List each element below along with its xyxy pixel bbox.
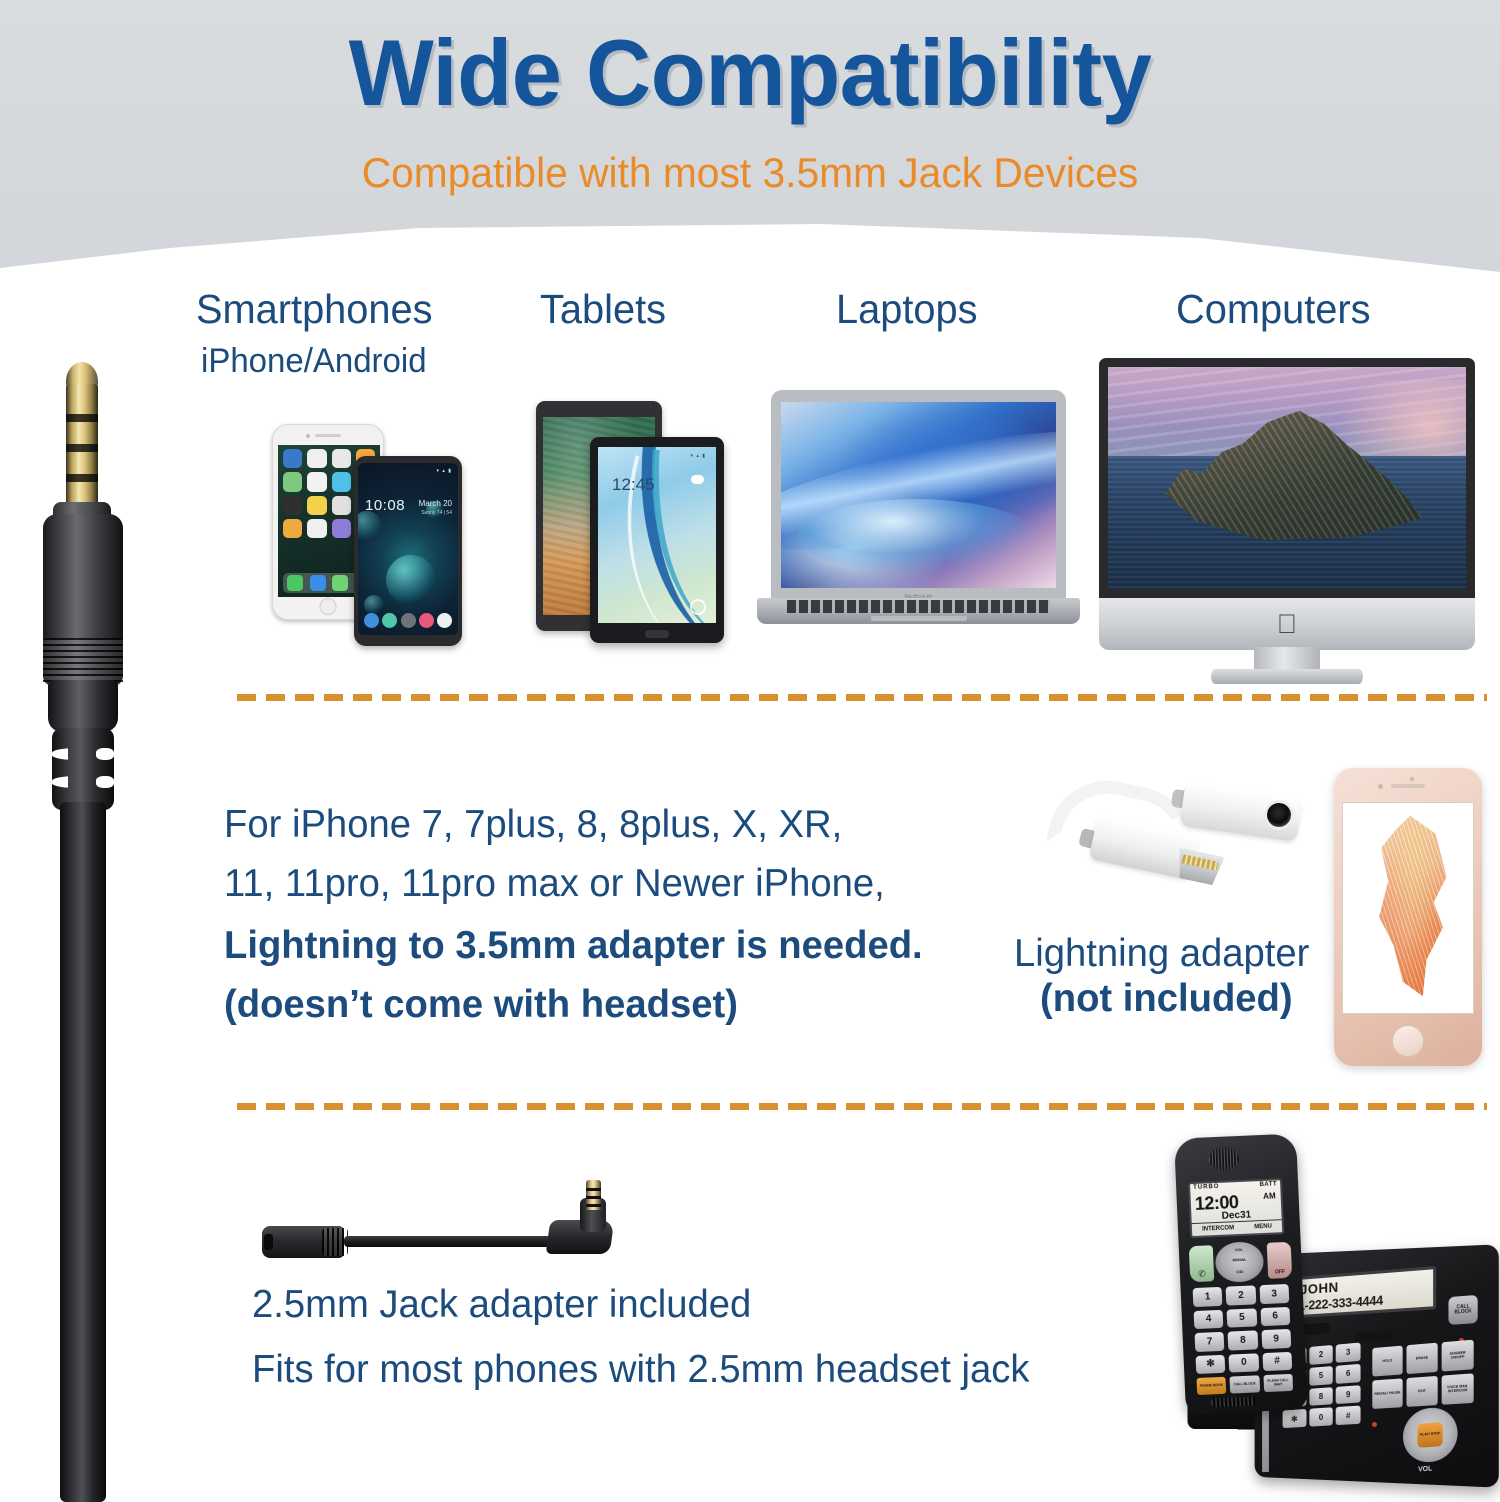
play-stop-button[interactable]: PLAY/ STOP (1417, 1422, 1442, 1448)
redial-pause-button[interactable]: REDIAL/ PAUSE (1372, 1378, 1402, 1409)
imac-screen (1108, 367, 1466, 589)
tablet-weather-icon (691, 475, 704, 484)
handset-earpiece (1208, 1146, 1239, 1171)
app-icon (332, 519, 351, 538)
wallpaper-bubble (364, 595, 384, 615)
android-dock (364, 613, 452, 628)
android-weather: Sunny 74 | 54 (421, 510, 452, 516)
softkey-intercom[interactable]: INTERCOM (1202, 1225, 1234, 1232)
handset-keypad[interactable]: 1 2 3 4 5 6 7 8 9 ✻ 0 # (1193, 1284, 1293, 1374)
android-clock: 10:08 (365, 497, 405, 514)
plug-insulator-ring-3 (66, 474, 98, 482)
category-label-smartphones: Smartphones (196, 288, 433, 331)
plug-relief-notch-2b (96, 776, 114, 788)
macbook-trackpad (871, 616, 967, 621)
rose-gold-iphone-illustration (1334, 768, 1482, 1066)
app-icon (307, 496, 326, 515)
keypad-key[interactable]: 6 (1260, 1306, 1290, 1326)
iphone-proximity-sensor (1410, 777, 1414, 781)
macbook-keyboard (787, 600, 1050, 613)
keypad-key[interactable]: 3 (1336, 1343, 1361, 1363)
call-block-label: CALL BLOCK (1448, 1304, 1477, 1316)
android-phone-illustration: ▾ ▴ ▮ 10:08 March 20 Sunny 74 | 54 (354, 456, 462, 646)
iphone-speaker (315, 434, 341, 437)
keypad-key[interactable]: 8 (1228, 1330, 1258, 1350)
call-block-button[interactable]: CALL BLOCK (1230, 1375, 1260, 1393)
iphone-screen (1342, 802, 1474, 1014)
answer-on-off-button[interactable]: ANSWER ON/OFF (1442, 1340, 1474, 1372)
app-icon (283, 449, 302, 468)
section-divider-top (237, 694, 1487, 701)
page-subtitle: Compatible with most 3.5mm Jack Devices (23, 152, 1478, 194)
page-title: Wide Compatibility (30, 26, 1470, 120)
status-led-icon (1372, 1422, 1377, 1427)
dock-icon-safari (310, 575, 326, 591)
app-icon (332, 472, 351, 491)
keypad-key[interactable]: ✻ (1283, 1409, 1307, 1428)
iphone-front-camera (306, 434, 310, 438)
volume-label: VOL (1418, 1465, 1432, 1473)
lightning-adapter-not-included-caption: (not included) (1040, 977, 1293, 1021)
keypad-key[interactable]: ✻ (1196, 1354, 1226, 1374)
android-screen: ▾ ▴ ▮ 10:08 March 20 Sunny 74 | 54 (358, 463, 458, 635)
dock-icon-photos (419, 613, 434, 628)
imac-illustration:  (1093, 358, 1481, 688)
category-label-computers: Computers (1176, 288, 1371, 331)
iphone-front-camera (1378, 784, 1383, 789)
erase-button[interactable]: ERASE (1407, 1343, 1438, 1374)
handset-display: TURBO BATT 12:00 AM Dec31 INTERCOM MENU (1188, 1178, 1284, 1238)
voicemail-intercom-button[interactable]: VOICE MAIL INTERCOM (1442, 1373, 1474, 1404)
phonebook-button[interactable]: PHONE BOOK (1196, 1377, 1226, 1395)
keypad-key[interactable]: 0 (1309, 1407, 1333, 1426)
plug-insulator-ring-1 (586, 1188, 601, 1191)
macbook-lid: MacBook Air (771, 390, 1066, 602)
call-block-button[interactable]: CALL BLOCK (1448, 1295, 1477, 1325)
adapter-cord (344, 1236, 556, 1247)
softkey-menu[interactable]: MENU (1254, 1224, 1272, 1231)
imac-chin:  (1099, 598, 1475, 650)
keypad-key[interactable]: # (1262, 1351, 1292, 1371)
app-icon (307, 519, 326, 538)
imac-stand-foot (1211, 669, 1363, 684)
plug-insulator-ring-3 (586, 1204, 601, 1207)
handset-microphone (1211, 1396, 1255, 1407)
wallpaper-bubble (386, 555, 436, 605)
handset-clock-ampm: AM (1263, 1191, 1276, 1201)
exit-button[interactable]: EXIT (1407, 1376, 1438, 1407)
tablet-home-button (645, 630, 669, 638)
iphone-home-button (1391, 1024, 1425, 1058)
phone-handset: TURBO BATT 12:00 AM Dec31 INTERCOM MENU … (1174, 1133, 1308, 1414)
keypad-key[interactable]: 3 (1259, 1284, 1289, 1304)
dock-icon-phone (287, 575, 303, 591)
tablet-clock: 12:45 (612, 475, 655, 495)
off-button[interactable]: OFF (1267, 1242, 1293, 1279)
plug-taper (48, 680, 118, 732)
dock-icon-camera (437, 613, 452, 628)
dock-icon-messages (382, 613, 397, 628)
keypad-key[interactable]: 5 (1227, 1308, 1257, 1328)
keypad-key[interactable]: 9 (1261, 1329, 1291, 1349)
category-label-tablets: Tablets (540, 288, 666, 331)
dock-icon-messages (332, 575, 348, 591)
handset-status-left: TURBO (1193, 1184, 1220, 1191)
handset-softkey-bar: INTERCOM MENU (1192, 1219, 1282, 1236)
lightning-text-line-3: Lightning to 3.5mm adapter is needed. (224, 924, 923, 968)
handset-nav-pad[interactable]: VOL REDIAL CID (1215, 1241, 1265, 1283)
imac-bezel (1099, 358, 1475, 598)
lightning-text-line-2: 11, 11pro, 11pro max or Newer iPhone, (224, 862, 885, 906)
flash-call-wait-button[interactable]: FLASH CALL WAIT (1263, 1374, 1293, 1392)
jack25-text-line-2: Fits for most phones with 2.5mm headset … (252, 1348, 1029, 1392)
app-icon (283, 519, 302, 538)
keypad-key[interactable]: 9 (1336, 1385, 1361, 1405)
iphone-speaker (1391, 784, 1425, 788)
jack25-text-line-1: 2.5mm Jack adapter included (252, 1283, 751, 1327)
lightning-adapter-caption: Lightning adapter (1014, 932, 1309, 976)
wallpaper-bubble (358, 511, 382, 541)
wallpaper-silk-flower (1366, 816, 1457, 997)
category-label-laptops: Laptops (836, 288, 978, 331)
lightning-to-35mm-adapter-illustration (1040, 778, 1312, 903)
keypad-key[interactable]: 5 (1309, 1366, 1333, 1386)
hold-button[interactable]: HOLD (1372, 1346, 1402, 1377)
plug-insulator-ring-1 (66, 414, 98, 422)
macbook-screen (781, 402, 1056, 588)
tablet-widget-circle (690, 599, 706, 615)
tablet-status-bar: ▾ ▴ ▮ (690, 453, 706, 459)
plug-insulator-ring-2 (586, 1196, 601, 1199)
plug-grip-ribs (43, 638, 123, 686)
android-date: March 20 (419, 499, 452, 508)
nav-redial-label: REDIAL (1232, 1257, 1246, 1263)
headset-cable (60, 802, 106, 1502)
samsung-tablet-screen: ▾ ▴ ▮ 12:45 (598, 447, 716, 623)
macbook-illustration: MacBook Air (757, 390, 1080, 633)
app-icon (283, 496, 302, 515)
app-icon (307, 472, 326, 491)
app-icon (283, 472, 302, 491)
keypad-key[interactable]: 8 (1309, 1387, 1333, 1406)
nav-cid-label: CID (1236, 1269, 1243, 1274)
keypad-key[interactable]: 7 (1195, 1332, 1225, 1352)
headset-35mm-plug-illustration (30, 362, 140, 1502)
section-divider-bottom (237, 1103, 1487, 1110)
plug-relief-notch-1b (96, 748, 114, 760)
lightning-text-line-1: For iPhone 7, 7plus, 8, 8plus, X, XR, (224, 803, 842, 847)
plug-strain-relief (52, 728, 114, 810)
iphone-home-button (320, 598, 337, 615)
infographic-canvas: Wide Compatibility Compatible with most … (0, 0, 1500, 1500)
keypad-key[interactable]: 0 (1229, 1353, 1259, 1373)
caller-id-name: JOHN (1300, 1279, 1339, 1298)
apple-logo-icon:  (1277, 611, 1297, 638)
dock-icon-apps (401, 613, 416, 628)
app-icon (332, 449, 351, 468)
plug-insulator-ring-2 (66, 444, 98, 452)
keypad-key[interactable]: # (1336, 1406, 1361, 1425)
app-icon (307, 449, 326, 468)
dock-icon-phone (364, 613, 379, 628)
keypad-key[interactable]: 1 (1193, 1287, 1223, 1307)
android-status-bar: ▾ ▴ ▮ (436, 468, 452, 474)
nav-volume-label: VOL (1235, 1247, 1243, 1252)
keypad-key[interactable]: 2 (1309, 1345, 1333, 1365)
25mm-jack-adapter-illustration (262, 1180, 632, 1280)
keypad-key[interactable]: 6 (1336, 1364, 1361, 1384)
phone-base-function-keys[interactable]: HOLD ERASE ANSWER ON/OFF REDIAL/ PAUSE E… (1372, 1340, 1473, 1409)
adapter-25mm-socket-hole (264, 1234, 273, 1250)
app-icon (332, 496, 351, 515)
talk-button[interactable]: ✆ (1189, 1245, 1215, 1282)
keypad-key[interactable]: 2 (1226, 1285, 1256, 1305)
samsung-tablet-illustration: ▾ ▴ ▮ 12:45 (590, 437, 724, 643)
keypad-key[interactable]: 4 (1194, 1309, 1224, 1329)
cordless-phone-illustration: JOHN 1-222-333-4444 CALL BLOCK 1 2 3 4 5… (1166, 1136, 1496, 1500)
category-sublabel-smartphones: iPhone/Android (201, 344, 427, 380)
lightning-text-line-4: (doesn’t come with headset) (224, 983, 738, 1027)
battery-icon: BATT (1259, 1181, 1277, 1188)
handset-function-keys[interactable]: PHONE BOOK CALL BLOCK FLASH CALL WAIT (1196, 1374, 1293, 1395)
